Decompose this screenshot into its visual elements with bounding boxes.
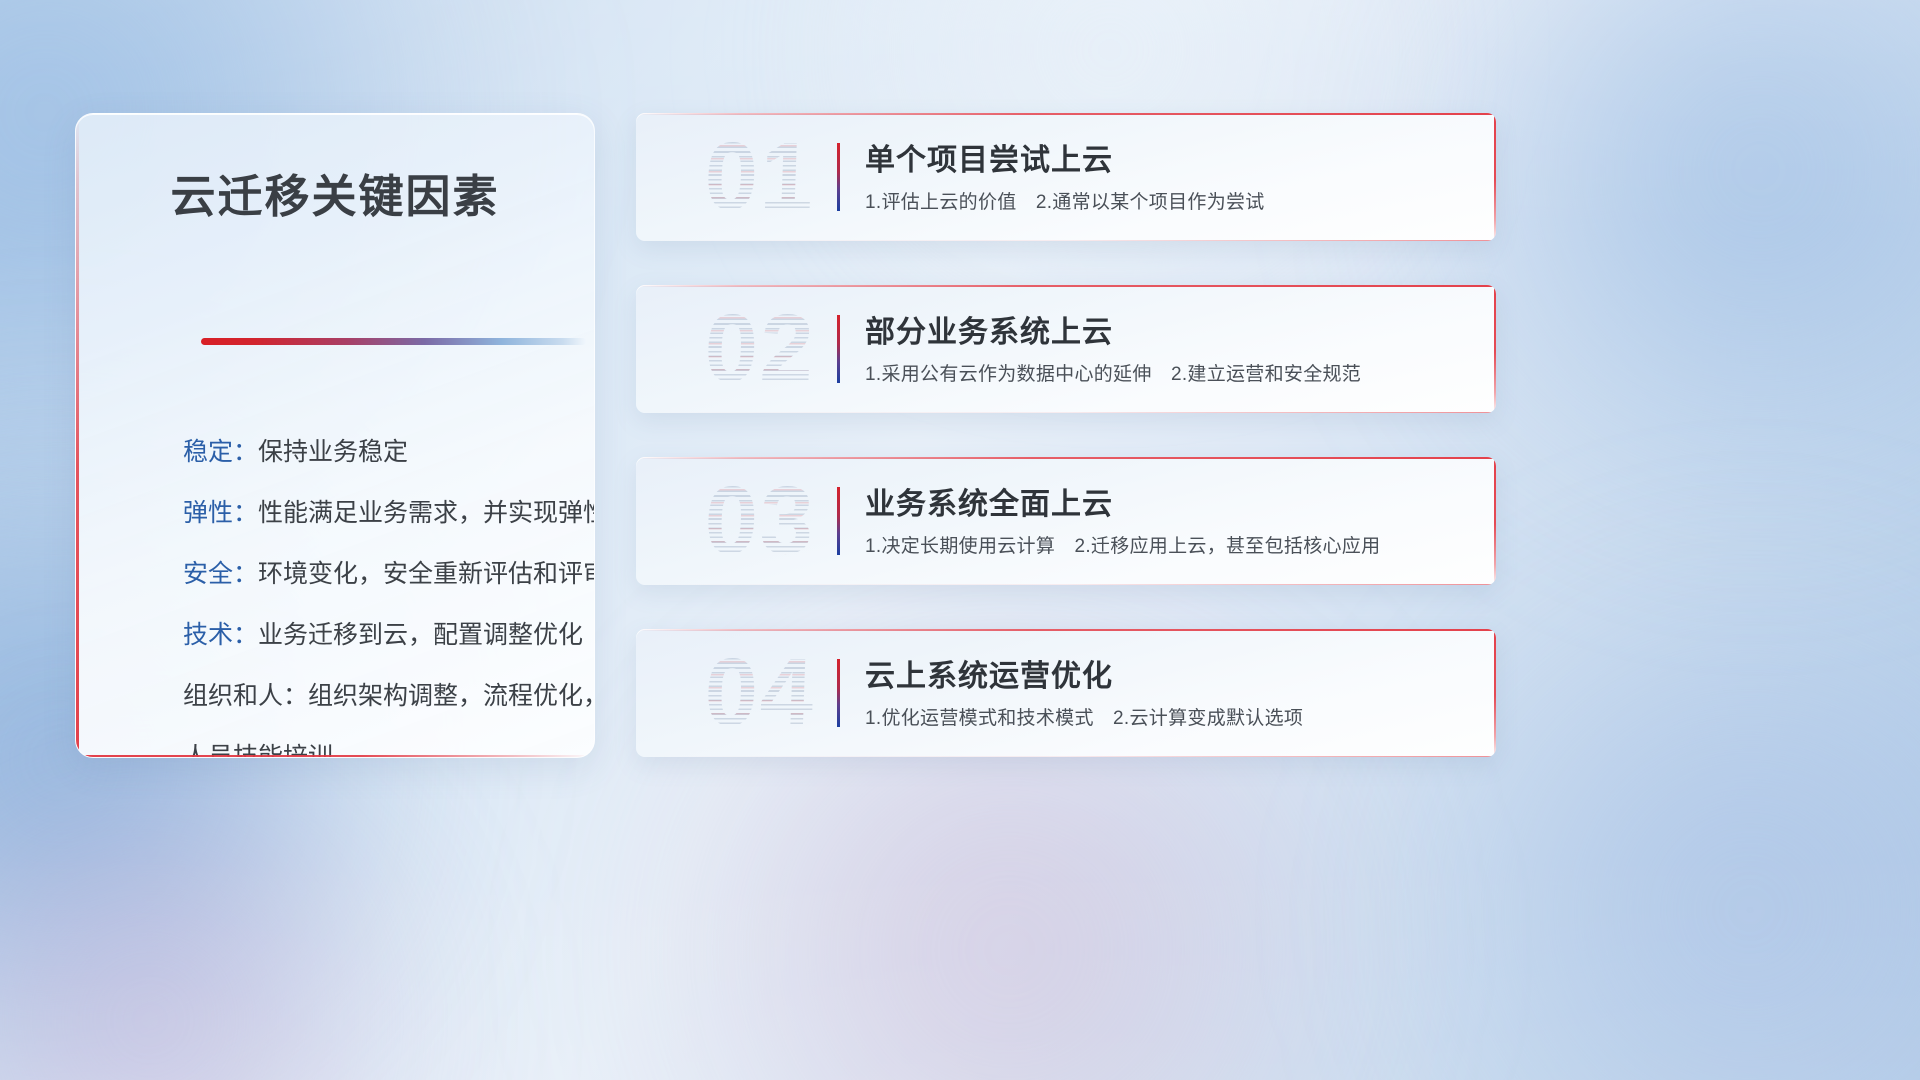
stage-title: 单个项目尝试上云 [865,135,1113,179]
card-right-accent [1494,285,1496,413]
card-divider-bar [837,487,840,555]
stage-description: 1.优化运营模式和技术模式 2.云计算变成默认选项 [865,703,1303,730]
list-item-label: 弹性： [183,499,258,527]
stage-number-ghost-tint: 04 [678,635,842,751]
title-underline-rule [201,338,586,345]
stage-title: 云上系统运营优化 [865,651,1113,695]
card-divider-bar [837,659,840,727]
list-item: 安全：环境变化，安全重新评估和评审 [183,544,570,605]
card-top-accent [636,457,1496,459]
card-right-accent [1494,629,1496,757]
list-item-value: 人员技能培训 [183,743,333,758]
list-item: 技术：业务迁移到云，配置调整优化 [183,605,570,666]
list-item: 组织和人：组织架构调整，流程优化， [183,666,570,727]
stage-title: 部分业务系统上云 [865,307,1113,351]
list-item: 稳定：保持业务稳定 [183,422,570,483]
stage-description: 1.采用公有云作为数据中心的延伸 2.建立运营和安全规范 [865,359,1361,386]
list-item-label: 技术： [183,621,258,649]
list-item-label: 安全： [183,560,258,588]
list-item-value: 业务迁移到云，配置调整优化 [258,621,583,649]
stage-number-ghost-tint: 03 [678,463,842,579]
stage-number-ghost-tint: 02 [678,291,842,407]
slide-canvas: 云迁移关键因素 稳定：保持业务稳定 弹性：性能满足业务需求，并实现弹性 安全：环… [0,0,1920,1080]
stage-card-04[interactable]: 04 04 云上系统运营优化 1.优化运营模式和技术模式 2.云计算变成默认选项 [636,629,1496,757]
key-factors-list: 稳定：保持业务稳定 弹性：性能满足业务需求，并实现弹性 安全：环境变化，安全重新… [183,422,570,758]
card-top-accent [636,113,1496,115]
stage-description: 1.评估上云的价值 2.通常以某个项目作为尝试 [865,187,1265,214]
stage-number-ghost-tint: 01 [678,119,842,235]
list-item-value: 组织架构调整，流程优化， [308,682,595,710]
card-bottom-accent [636,240,1496,242]
list-item-value: 环境变化，安全重新评估和评审 [258,560,595,588]
list-item-continuation: 人员技能培训 [183,727,570,758]
card-right-accent [1494,113,1496,241]
list-item-value: 保持业务稳定 [258,438,408,466]
card-right-accent [1494,457,1496,585]
list-item: 弹性：性能满足业务需求，并实现弹性 [183,483,570,544]
card-bottom-accent [636,412,1496,414]
card-bottom-accent [636,756,1496,758]
list-item-value: 性能满足业务需求，并实现弹性 [258,499,595,527]
card-divider-bar [837,143,840,211]
card-top-accent [636,629,1496,631]
stage-card-02[interactable]: 02 02 部分业务系统上云 1.采用公有云作为数据中心的延伸 2.建立运营和安… [636,285,1496,413]
stage-title: 业务系统全面上云 [865,479,1113,523]
list-item-label: 稳定： [183,438,258,466]
card-divider-bar [837,315,840,383]
stage-card-03[interactable]: 03 03 业务系统全面上云 1.决定长期使用云计算 2.迁移应用上云，甚至包括… [636,457,1496,585]
card-bottom-accent [636,584,1496,586]
list-item-label: 组织和人： [183,682,308,710]
key-factors-panel: 云迁移关键因素 稳定：保持业务稳定 弹性：性能满足业务需求，并实现弹性 安全：环… [75,113,595,758]
stage-card-01[interactable]: 01 01 单个项目尝试上云 1.评估上云的价值 2.通常以某个项目作为尝试 [636,113,1496,241]
stage-description: 1.决定长期使用云计算 2.迁移应用上云，甚至包括核心应用 [865,531,1380,558]
page-title: 云迁移关键因素 [76,160,594,225]
card-top-accent [636,285,1496,287]
